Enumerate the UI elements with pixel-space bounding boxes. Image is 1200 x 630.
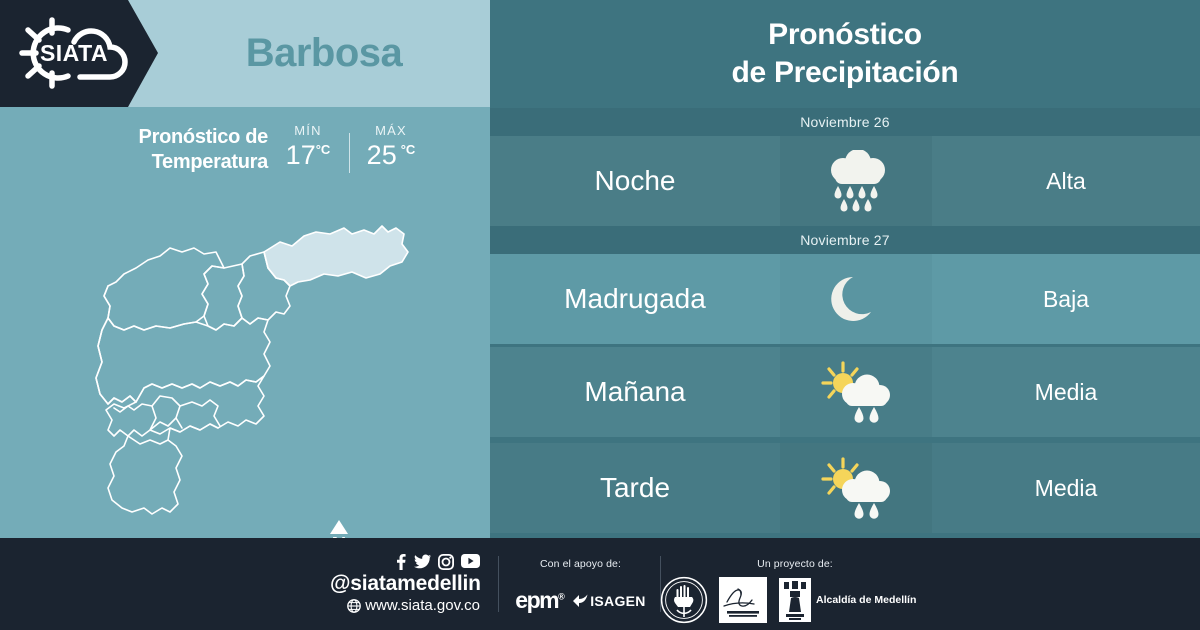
temperature-min-label: MÍN — [294, 123, 321, 138]
date-band-1: Noviembre 26 — [490, 108, 1200, 136]
precipitation-panel: Pronóstico de Precipitación Noviembre 26… — [490, 0, 1200, 538]
forecast-row[interactable]: Noche — [490, 136, 1200, 226]
project-title: Un proyecto de: — [700, 558, 890, 570]
medellin-seal-icon — [660, 576, 708, 624]
website-line[interactable]: www.siata.gov.co — [330, 596, 480, 615]
support-logos: epm® ISAGEN — [508, 587, 653, 614]
social-block: @siatamedellin www.siata.gov.co — [330, 554, 480, 615]
temperature-min-value: 17 — [286, 140, 316, 170]
map-region-outlines — [96, 248, 290, 514]
forecast-period-cell: Tarde — [490, 443, 780, 533]
support-block: Con el apoyo de: epm® ISAGEN — [508, 558, 653, 614]
temperature-max-value: 25 — [367, 140, 397, 170]
alcaldia-label: Alcaldía de Medellín — [816, 594, 916, 606]
temperature-max-value-group: 25°C — [367, 140, 416, 171]
map-region-barbosa — [264, 226, 408, 286]
project-logos: Alcaldía de Medellín — [660, 576, 916, 624]
forecast-row[interactable]: Mañana — [490, 347, 1200, 437]
isagen-label: ISAGEN — [590, 593, 645, 609]
temperature-divider — [349, 133, 350, 173]
left-panel: SIATA Barbosa Pronóstico de Temperatura … — [0, 0, 490, 538]
precipitation-title: Pronóstico de Precipitación — [490, 16, 1200, 92]
isagen-mark-icon — [573, 594, 588, 608]
forecast-period-cell: Mañana — [490, 347, 780, 437]
forecast-probability-label: Baja — [1043, 286, 1089, 313]
north-arrow-triangle — [330, 520, 348, 534]
forecast-period-label: Noche — [595, 165, 676, 197]
forecast-probability-label: Media — [1035, 475, 1098, 502]
twitter-icon[interactable] — [414, 554, 431, 570]
sun-cloud-icon: SIATA — [14, 14, 134, 92]
project-block: Un proyecto de: — [700, 558, 890, 570]
forecast-row[interactable]: Madrugada Baja — [490, 254, 1200, 344]
area-metropolitana-logo — [718, 576, 768, 624]
rain-cloud-icon — [819, 150, 893, 212]
social-icons — [330, 554, 480, 570]
temperature-title: Pronóstico de Temperatura — [88, 125, 268, 175]
website-label: www.siata.gov.co — [365, 596, 480, 615]
forecast-probability-cell: Baja — [932, 254, 1200, 344]
temperature-min-unit: °C — [316, 142, 331, 157]
temperature-values: MÍN 17°C MÁX 25°C — [277, 123, 422, 173]
forecast-icon-cell — [780, 347, 932, 437]
forecast-probability-cell: Media — [932, 443, 1200, 533]
crescent-moon-icon — [827, 270, 885, 328]
footer: @siatamedellin www.siata.gov.co Con el a… — [0, 538, 1200, 630]
globe-icon — [347, 599, 361, 613]
precipitation-title-line1: Pronóstico — [490, 16, 1200, 54]
aburra-valley-map: N — [52, 190, 452, 530]
siata-logo-block: SIATA — [0, 0, 158, 107]
instagram-icon[interactable] — [438, 554, 454, 570]
alcaldia-crest-icon — [778, 577, 812, 623]
temperature-title-line2: Temperatura — [88, 150, 268, 175]
support-title: Con el apoyo de: — [508, 558, 653, 570]
forecast-probability-cell: Media — [932, 347, 1200, 437]
svg-text:SIATA: SIATA — [40, 40, 108, 66]
map-svg — [52, 190, 452, 530]
forecast-period-cell: Noche — [490, 136, 780, 226]
temperature-max: MÁX 25°C — [360, 123, 422, 171]
forecast-icon-cell — [780, 443, 932, 533]
footer-divider-1 — [498, 556, 499, 612]
precipitation-title-line2: de Precipitación — [490, 54, 1200, 92]
forecast-icon-cell — [780, 254, 932, 344]
temperature-min: MÍN 17°C — [277, 123, 339, 171]
date-band-2: Noviembre 27 — [490, 226, 1200, 254]
forecast-probability-label: Media — [1035, 379, 1098, 406]
temperature-min-value-group: 17°C — [286, 140, 331, 171]
forecast-row[interactable]: Tarde — [490, 443, 1200, 533]
temperature-max-label: MÁX — [375, 123, 407, 138]
temperature-max-unit: °C — [401, 142, 416, 157]
youtube-icon[interactable] — [461, 554, 480, 568]
sun-rain-cloud-icon — [821, 361, 891, 423]
epm-logo: epm® — [515, 587, 563, 614]
forecast-probability-label: Alta — [1046, 168, 1086, 195]
infographic-root: SIATA Barbosa Pronóstico de Temperatura … — [0, 0, 1200, 630]
forecast-icon-cell — [780, 136, 932, 226]
city-name: Barbosa — [158, 0, 490, 107]
temperature-block: Pronóstico de Temperatura MÍN 17°C MÁX 2… — [0, 107, 490, 197]
social-handle[interactable]: @siatamedellin — [330, 572, 480, 596]
forecast-period-cell: Madrugada — [490, 254, 780, 344]
facebook-icon[interactable] — [394, 554, 407, 570]
forecast-probability-cell: Alta — [932, 136, 1200, 226]
alcaldia-logo-group: Alcaldía de Medellín — [778, 577, 916, 623]
sun-rain-cloud-icon — [821, 457, 891, 519]
temperature-title-line1: Pronóstico de — [88, 125, 268, 150]
isagen-logo: ISAGEN — [573, 593, 645, 609]
forecast-period-label: Tarde — [600, 472, 670, 504]
forecast-period-label: Mañana — [584, 376, 685, 408]
forecast-period-label: Madrugada — [564, 283, 706, 315]
